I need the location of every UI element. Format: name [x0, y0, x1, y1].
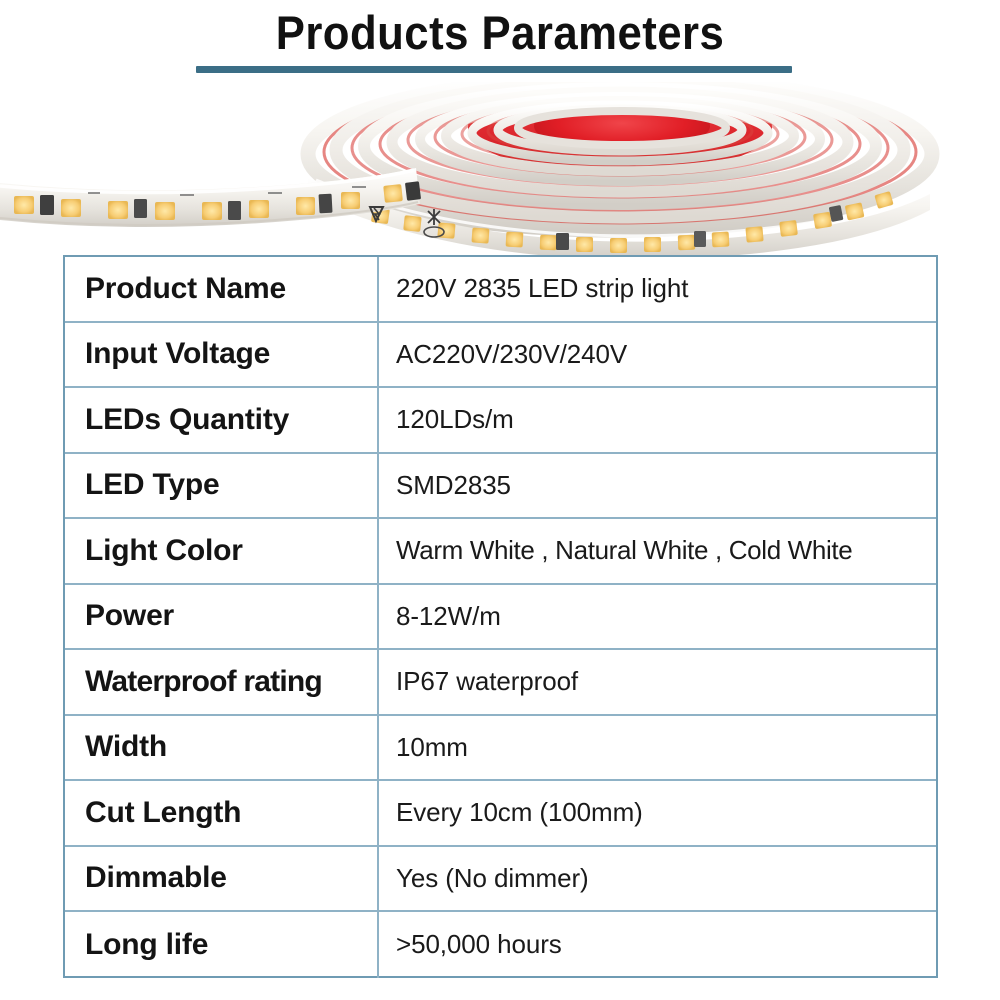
- param-label: Power: [65, 585, 379, 649]
- param-value: Every 10cm (100mm): [379, 781, 936, 845]
- param-value: SMD2835: [379, 454, 936, 518]
- param-value: >50,000 hours: [379, 912, 936, 978]
- page-header: Products Parameters: [0, 8, 1000, 57]
- param-label: Dimmable: [65, 847, 379, 911]
- table-row: Width 10mm: [65, 716, 936, 782]
- param-label: LED Type: [65, 454, 379, 518]
- table-row: LED Type SMD2835: [65, 454, 936, 520]
- table-row: Input Voltage AC220V/230V/240V: [65, 323, 936, 389]
- param-value: Warm White , Natural White , Cold White: [379, 519, 936, 583]
- page-title: Products Parameters: [35, 8, 965, 57]
- table-row: Light Color Warm White , Natural White ,…: [65, 519, 936, 585]
- product-parameters-page: Products Parameters: [0, 0, 1000, 1000]
- table-row: LEDs Quantity 120LDs/m: [65, 388, 936, 454]
- param-value: 120LDs/m: [379, 388, 936, 452]
- table-row: Cut Length Every 10cm (100mm): [65, 781, 936, 847]
- param-value: IP67 waterproof: [379, 650, 936, 714]
- param-label: Waterproof rating: [65, 650, 379, 714]
- param-label: Input Voltage: [65, 323, 379, 387]
- product-parameters-table: Product Name 220V 2835 LED strip light I…: [63, 255, 938, 978]
- param-value: Yes (No dimmer): [379, 847, 936, 911]
- led-strip-illustration: [0, 82, 1000, 257]
- param-label: Cut Length: [65, 781, 379, 845]
- table-row: Power 8-12W/m: [65, 585, 936, 651]
- param-label: Light Color: [65, 519, 379, 583]
- param-value: 10mm: [379, 716, 936, 780]
- table-row: Long life >50,000 hours: [65, 912, 936, 978]
- param-label: Width: [65, 716, 379, 780]
- table-row: Waterproof rating IP67 waterproof: [65, 650, 936, 716]
- title-underline-rule: [196, 66, 792, 73]
- param-value: AC220V/230V/240V: [379, 323, 936, 387]
- led-strip-reel-photo: [0, 82, 1000, 257]
- param-label: Long life: [65, 912, 379, 978]
- table-row: Product Name 220V 2835 LED strip light: [65, 257, 936, 323]
- param-value: 220V 2835 LED strip light: [379, 257, 936, 321]
- param-label: LEDs Quantity: [65, 388, 379, 452]
- param-value: 8-12W/m: [379, 585, 936, 649]
- table-row: Dimmable Yes (No dimmer): [65, 847, 936, 913]
- param-label: Product Name: [65, 257, 379, 321]
